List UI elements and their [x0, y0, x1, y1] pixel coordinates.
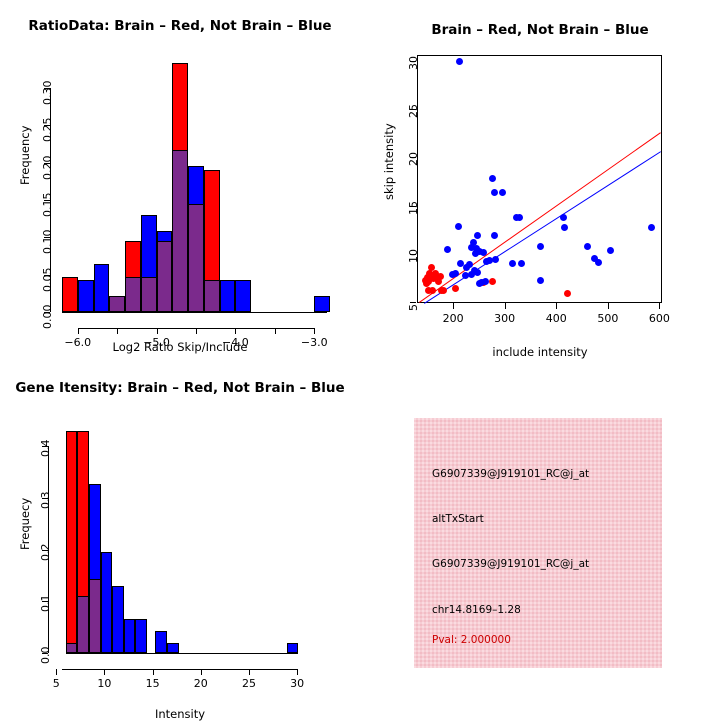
- ratio-y-ticklabel: 0.05: [41, 267, 54, 292]
- scatter-x-tick: [608, 303, 609, 309]
- ratio-x-tick: [78, 328, 79, 334]
- scatter-y-ticklabel: 20: [407, 152, 420, 166]
- scatter-point-not-brain: [482, 278, 489, 285]
- ratio-y-ticklabel: 0.10: [41, 230, 54, 255]
- scatter-point-not-brain: [516, 214, 523, 221]
- scatter-y-ticklabel: 30: [407, 56, 420, 70]
- gene-bar: [287, 643, 299, 653]
- info-gene-id: G6907339@J919101_RC@j_at: [432, 558, 589, 570]
- gene-bar: [66, 431, 78, 653]
- gene-x-tick: [201, 669, 202, 675]
- gene-bar: [155, 631, 167, 653]
- scatter-x-ticklabel: 400: [540, 312, 572, 325]
- ratio-y-ticklabel: 0.25: [41, 118, 54, 143]
- scatter-point-not-brain: [537, 243, 544, 250]
- gene-x-tick: [104, 669, 105, 675]
- scatter-x-ticklabel: 300: [489, 312, 521, 325]
- gene-intensity-histogram-xlabel: Intensity: [0, 707, 360, 721]
- gene-y-ticklabel: 0.2: [39, 543, 52, 561]
- scatter-point-not-brain: [591, 255, 598, 262]
- scatter-point-not-brain: [584, 243, 591, 250]
- scatter-x-ticklabel: 200: [437, 312, 469, 325]
- gene-x-ticklabel: 20: [187, 677, 215, 690]
- gene-y-ticklabel: 0.1: [39, 595, 52, 613]
- info-pval: Pval: 2.000000: [432, 634, 511, 646]
- ratio-y-ticklabel: 0.20: [41, 155, 54, 180]
- gene-x-tick: [249, 669, 250, 675]
- ratio-bar: [94, 264, 110, 312]
- ratio-histogram-plot: 0.000.050.100.150.200.250.30−6.0−5.0−4.0…: [0, 0, 360, 360]
- gene-intensity-histogram-panel: Gene Itensity: Brain – Red, Not Brain – …: [0, 360, 360, 720]
- scatter-x-tick: [659, 303, 660, 309]
- gene-x-tick: [56, 669, 57, 675]
- scatter-x-tick: [556, 303, 557, 309]
- gene-bar: [124, 619, 136, 653]
- scatter-frame: [417, 55, 662, 303]
- ratio-bar-overlap: [172, 150, 188, 312]
- gene-x-ticklabel: 30: [283, 677, 311, 690]
- ratio-x-minor-tick: [275, 328, 276, 334]
- ratio-histogram-xlabel: Log2 Ratio Skip/Include: [0, 340, 360, 354]
- ratio-bar-overlap: [157, 241, 173, 312]
- gene-x-tick: [297, 669, 298, 675]
- gene-x-ticklabel: 15: [139, 677, 167, 690]
- annotation-info-panel: G6907339@J919101_RC@j_at altTxStart G690…: [414, 418, 662, 668]
- ratio-bar: [220, 280, 236, 312]
- gene-x-ticklabel: 10: [90, 677, 118, 690]
- intensity-scatter-xlabel: include intensity: [360, 345, 720, 359]
- info-locus: chr14.8169–1.28: [432, 604, 521, 616]
- gene-bar: [112, 586, 124, 653]
- gene-bar: [167, 643, 179, 653]
- gene-y-ticklabel: 0.3: [39, 491, 52, 509]
- scatter-point-not-brain: [489, 175, 496, 182]
- intensity-scatter-ylabel: skip intensity: [382, 123, 396, 200]
- gene-bar-overlap: [89, 579, 101, 653]
- info-probe-id: G6907339@J919101_RC@j_at: [432, 468, 589, 480]
- scatter-y-ticklabel: 15: [407, 201, 420, 215]
- scatter-point-not-brain: [648, 224, 655, 231]
- scatter-x-tick: [505, 303, 506, 309]
- ratio-y-ticklabel: 0.30: [41, 81, 54, 106]
- ratio-x-minor-tick: [117, 328, 118, 334]
- scatter-y-ticklabel: 5: [407, 304, 420, 311]
- ratio-x-tick: [235, 328, 236, 334]
- gene-bar: [101, 552, 113, 653]
- gene-y-ticklabel: 0.4: [39, 440, 52, 458]
- ratio-bar-overlap: [141, 277, 157, 312]
- gene-y-ticklabel: 0.0: [39, 647, 52, 665]
- gene-bar-overlap: [66, 643, 78, 653]
- scatter-y-ticklabel: 10: [407, 249, 420, 263]
- scatter-point-brain: [429, 287, 436, 294]
- ratio-x-minor-tick: [196, 328, 197, 334]
- scatter-y-tick: [410, 302, 416, 303]
- gene-baseline: [66, 653, 298, 654]
- gene-x-tick: [153, 669, 154, 675]
- gene-bar: [135, 619, 147, 653]
- ratio-bar-overlap: [109, 296, 125, 312]
- gene-x-axis: [62, 669, 298, 670]
- ratio-y-ticklabel: 0.00: [41, 305, 54, 330]
- scatter-x-ticklabel: 500: [592, 312, 624, 325]
- ratio-baseline: [62, 312, 327, 313]
- scatter-y-ticklabel: 25: [407, 104, 420, 118]
- ratio-bar: [235, 280, 251, 312]
- scatter-point-not-brain: [449, 271, 456, 278]
- scatter-x-tick: [453, 303, 454, 309]
- intensity-scatter-plot: 51015202530200300400500600: [360, 0, 720, 360]
- ratio-bar: [78, 280, 94, 312]
- ratio-bar: [314, 296, 330, 312]
- scatter-point-not-brain: [456, 58, 463, 65]
- info-event-type: altTxStart: [432, 513, 484, 525]
- scatter-x-ticklabel: 600: [643, 312, 675, 325]
- ratio-bar-overlap: [204, 280, 220, 312]
- ratio-bar: [62, 277, 78, 312]
- scatter-point-not-brain: [474, 269, 481, 276]
- ratio-bar-overlap: [125, 277, 141, 312]
- ratio-histogram-ylabel: Frequency: [18, 126, 32, 185]
- gene-x-ticklabel: 5: [42, 677, 70, 690]
- scatter-point-not-brain: [518, 260, 525, 267]
- ratio-x-tick: [157, 328, 158, 334]
- ratio-x-tick: [314, 328, 315, 334]
- scatter-point-brain: [564, 290, 571, 297]
- ratio-histogram-panel: RatioData: Brain – Red, Not Brain – Blue…: [0, 0, 360, 360]
- scatter-point-not-brain: [499, 189, 506, 196]
- gene-x-ticklabel: 25: [235, 677, 263, 690]
- gene-intensity-histogram-plot: 0.00.10.20.30.451015202530: [0, 360, 360, 720]
- intensity-scatter-panel: Brain – Red, Not Brain – Blue 5101520253…: [360, 0, 720, 360]
- scatter-point-not-brain: [468, 271, 475, 278]
- ratio-y-ticklabel: 0.15: [41, 193, 54, 218]
- gene-bar-overlap: [77, 596, 89, 653]
- ratio-bar-overlap: [188, 204, 204, 312]
- gene-intensity-histogram-ylabel: Frequecy: [18, 498, 32, 550]
- scatter-point-not-brain: [560, 214, 567, 221]
